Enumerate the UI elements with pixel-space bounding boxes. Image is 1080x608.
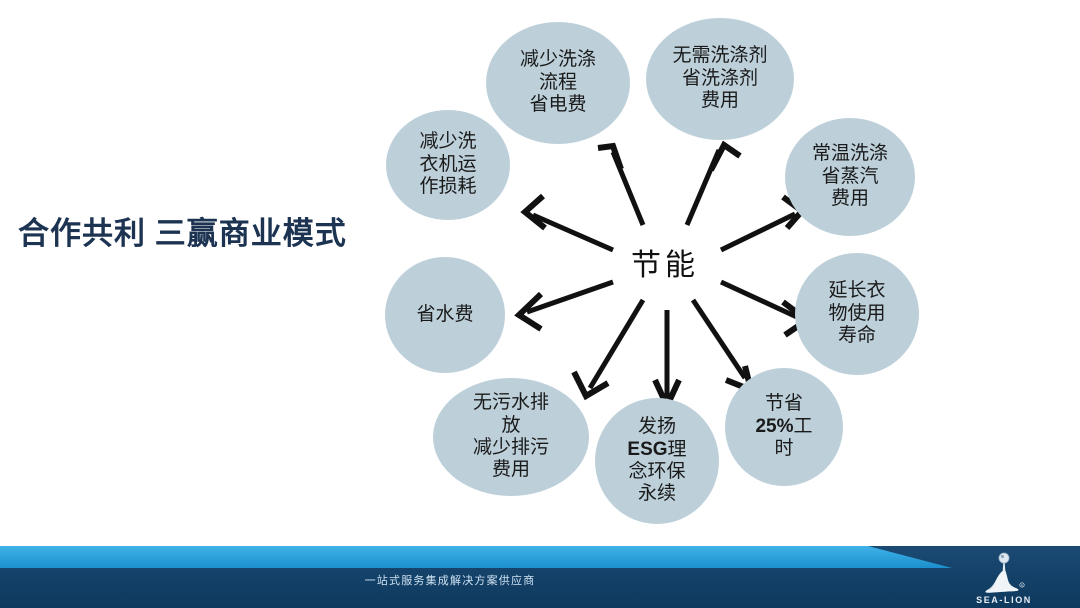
bubble-label: 减少洗衣机运作损耗 [386,131,510,198]
bubble-label: 延长衣物使用寿命 [795,280,919,347]
arrow-line-to-no-wastewater [590,300,643,388]
bubble-save-labor-hours[interactable]: 节省25%工时 [725,368,843,486]
arrow-line-to-no-detergent [687,150,719,225]
arrow-head-to-reduce-wash-process [598,146,621,169]
diagram-center-node: 节能 [565,232,765,292]
bubble-esg-sustainability[interactable]: 发扬ESG理念环保永续 [595,398,719,524]
radial-diagram: 节能 减少洗涤流程省电费 无需洗涤剂省洗涤剂费用 减少洗衣机运作损耗 常温洗涤省… [355,0,975,545]
arrow-line-to-save-labor-hours [693,300,745,378]
bubble-label: 发扬ESG理念环保永续 [595,416,719,506]
bubble-no-detergent[interactable]: 无需洗涤剂省洗涤剂费用 [646,18,794,140]
bubble-no-wastewater[interactable]: 无污水排放减少排污费用 [433,378,589,496]
bubble-label: 节省25%工时 [725,393,843,460]
bubble-reduce-machine-wear[interactable]: 减少洗衣机运作损耗 [386,110,510,220]
bubble-reduce-wash-process[interactable]: 减少洗涤流程省电费 [486,22,630,144]
slide-footer: 一站式服务集成解决方案供应商 R SEA-LION [0,546,1080,608]
sea-lion-wordmark: SEA-LION [964,595,1044,605]
bubble-save-water-fee[interactable]: 省水费 [385,257,505,373]
sea-lion-logo[interactable]: R SEA-LION [964,552,1044,606]
sea-lion-icon: R [964,552,1044,596]
bubble-extend-garment-life[interactable]: 延长衣物使用寿命 [795,253,919,375]
bubble-label: 省水费 [385,304,505,326]
arrow-line-to-reduce-wash-process [613,152,643,225]
arrow-head-to-no-detergent [711,145,740,170]
arrow-head-to-save-water-fee [519,294,541,329]
slide-canvas: 合作共利 三赢商业模式 [0,0,1080,608]
bubble-label: 无污水排放减少排污费用 [433,392,589,482]
bubble-label: 常温洗涤省蒸汽费用 [785,143,915,210]
bubble-label: 无需洗涤剂省洗涤剂费用 [646,45,794,112]
arrow-head-to-reduce-machine-wear [525,196,545,228]
bubble-ambient-temp-wash[interactable]: 常温洗涤省蒸汽费用 [785,118,915,236]
bubble-label: 减少洗涤流程省电费 [486,49,630,116]
footer-accent-band [0,546,1080,568]
footer-tagline: 一站式服务集成解决方案供应商 [0,572,900,588]
